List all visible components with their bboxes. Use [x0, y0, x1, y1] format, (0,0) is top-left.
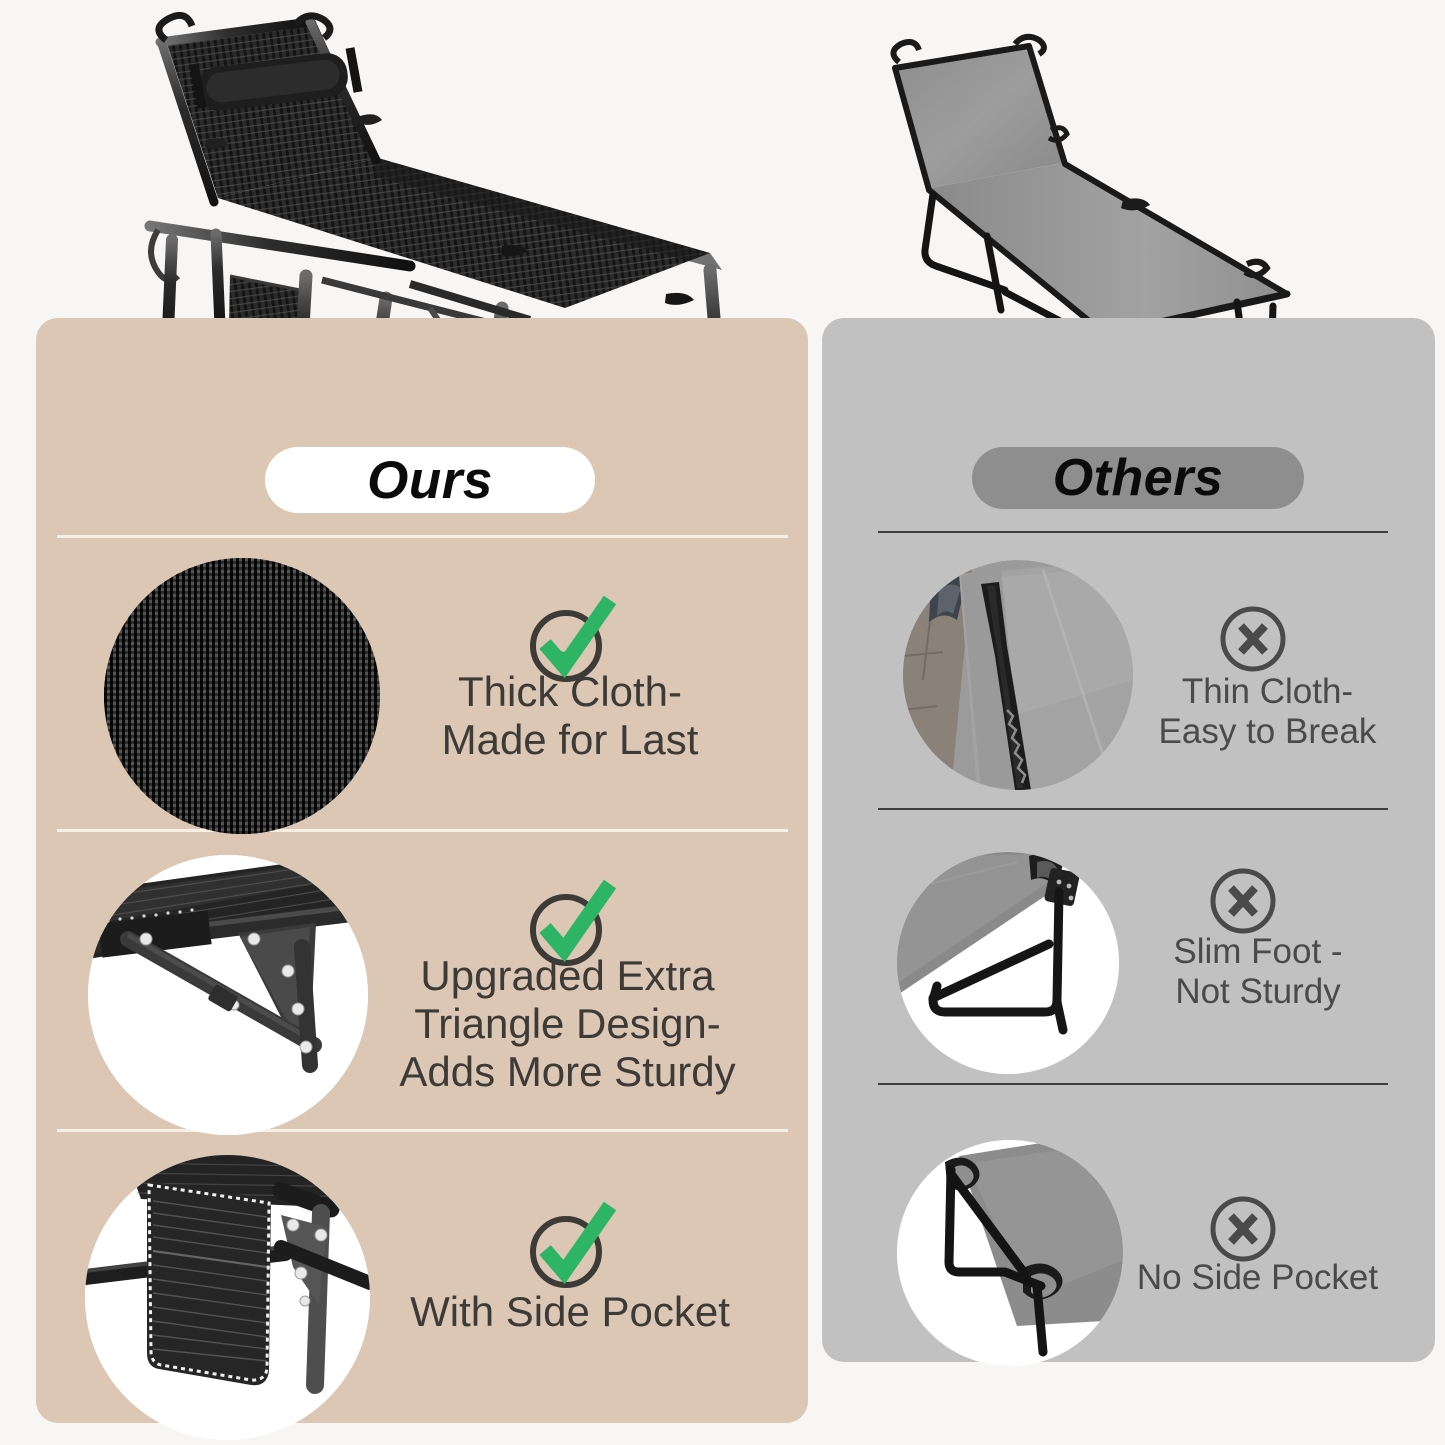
feature-label-others-2: Slim Foot - Not Sturdy	[1118, 932, 1398, 1012]
x-circle-icon	[1216, 602, 1290, 676]
thumb-side-pocket	[85, 1155, 370, 1440]
thumb-woven-fabric	[104, 558, 380, 834]
thumb-triangle-brace	[88, 855, 368, 1135]
divider-ours-2	[57, 829, 788, 832]
heading-pill-others: Others	[972, 447, 1304, 509]
feature-label-ours-2: Upgraded Extra Triangle Design- Adds Mor…	[370, 952, 765, 1096]
feature-label-ours-1: Thick Cloth- Made for Last	[400, 668, 740, 764]
feature-label-others-1: Thin Cloth- Easy to Break	[1130, 672, 1405, 752]
divider-others-3	[878, 1083, 1388, 1085]
heading-pill-ours: Ours	[265, 447, 595, 513]
feature-label-ours-3: With Side Pocket	[385, 1288, 755, 1336]
x-circle-icon	[1206, 864, 1280, 938]
divider-ours-3	[57, 1129, 788, 1132]
thumb-torn-fabric	[903, 560, 1133, 790]
divider-ours-1	[57, 535, 788, 538]
feature-label-others-3: No Side Pocket	[1110, 1258, 1405, 1298]
green-check-circle-icon	[522, 1200, 618, 1296]
infographic-stage: Ours Others Thick Cloth- Made for Last	[0, 0, 1445, 1445]
thumb-no-pocket-frame	[897, 1140, 1123, 1366]
divider-others-1	[878, 531, 1388, 533]
thumb-thin-leg-frame	[897, 852, 1119, 1074]
x-circle-icon	[1206, 1192, 1280, 1266]
divider-others-2	[878, 808, 1388, 810]
